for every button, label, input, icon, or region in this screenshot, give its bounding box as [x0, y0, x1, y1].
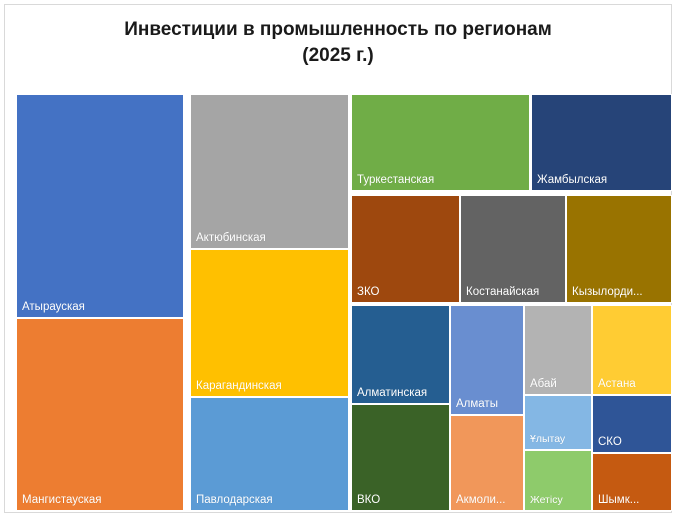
chart-frame: Инвестиции в промышленность по регионам … — [4, 4, 672, 513]
treemap-tile[interactable]: ЗКО — [351, 195, 460, 303]
chart-canvas: Инвестиции в промышленность по регионам … — [0, 0, 678, 519]
treemap-tile-label: Абай — [530, 377, 557, 391]
chart-title-line-1: Инвестиции в промышленность по регионам — [5, 17, 671, 43]
treemap-tile-label: Жетісу — [530, 493, 563, 507]
treemap-tile[interactable]: Акмоли... — [450, 415, 524, 511]
treemap-tile[interactable]: Абай — [524, 305, 592, 395]
treemap-tile-label: ВКО — [357, 493, 380, 507]
treemap-tile[interactable]: ВКО — [351, 404, 450, 511]
treemap-tile-label: Алматы — [456, 397, 498, 411]
treemap-tile-label: Атырауская — [22, 300, 85, 314]
treemap-tile-label: Алматинская — [357, 386, 427, 400]
treemap-tile-label: ЗКО — [357, 285, 379, 299]
treemap-tile[interactable]: СКО — [592, 395, 672, 453]
treemap-tile[interactable]: Алматы — [450, 305, 524, 415]
treemap-tile[interactable]: Астана — [592, 305, 672, 395]
treemap-tile[interactable]: Туркестанская — [351, 94, 530, 191]
treemap-tile[interactable]: Карагандинская — [190, 249, 349, 397]
treemap-tile[interactable]: Жамбылская — [531, 94, 672, 191]
treemap-tile-label: Кызылорди... — [572, 285, 643, 299]
treemap-tile[interactable]: Ұлытау — [524, 395, 592, 450]
treemap-tile[interactable]: Мангистауская — [16, 318, 184, 511]
treemap-tile[interactable]: Атырауская — [16, 94, 184, 318]
treemap-tile-label: Жамбылская — [537, 173, 607, 187]
treemap-tile[interactable]: Жетісу — [524, 450, 592, 511]
treemap-tile-label: Костанайская — [466, 285, 539, 299]
treemap-tile-label: Туркестанская — [357, 173, 434, 187]
treemap-tile[interactable]: Павлодарская — [190, 397, 349, 511]
chart-title-line-2: (2025 г.) — [5, 43, 671, 69]
treemap-tile[interactable]: Актюбинская — [190, 94, 349, 249]
treemap-tile-label: Карагандинская — [196, 379, 282, 393]
treemap-tile[interactable]: Алматинская — [351, 305, 450, 404]
treemap-tile[interactable]: Шымк... — [592, 453, 672, 511]
treemap-tile-label: Шымк... — [598, 493, 639, 507]
treemap-tile-label: Ұлытау — [530, 432, 565, 446]
chart-title: Инвестиции в промышленность по регионам … — [5, 17, 671, 69]
treemap-tile-label: Мангистауская — [22, 493, 102, 507]
treemap-tile[interactable]: Кызылорди... — [566, 195, 672, 303]
treemap-tile-label: Астана — [598, 377, 636, 391]
treemap-tile[interactable]: Костанайская — [460, 195, 566, 303]
treemap-tile-label: Павлодарская — [196, 493, 273, 507]
treemap-tile-label: Актюбинская — [196, 231, 266, 245]
treemap-tile-label: СКО — [598, 435, 622, 449]
treemap-tile-label: Акмоли... — [456, 493, 505, 507]
treemap-plot-area: АтыраускаяМангистаускаяАктюбинскаяКарага… — [16, 94, 672, 511]
